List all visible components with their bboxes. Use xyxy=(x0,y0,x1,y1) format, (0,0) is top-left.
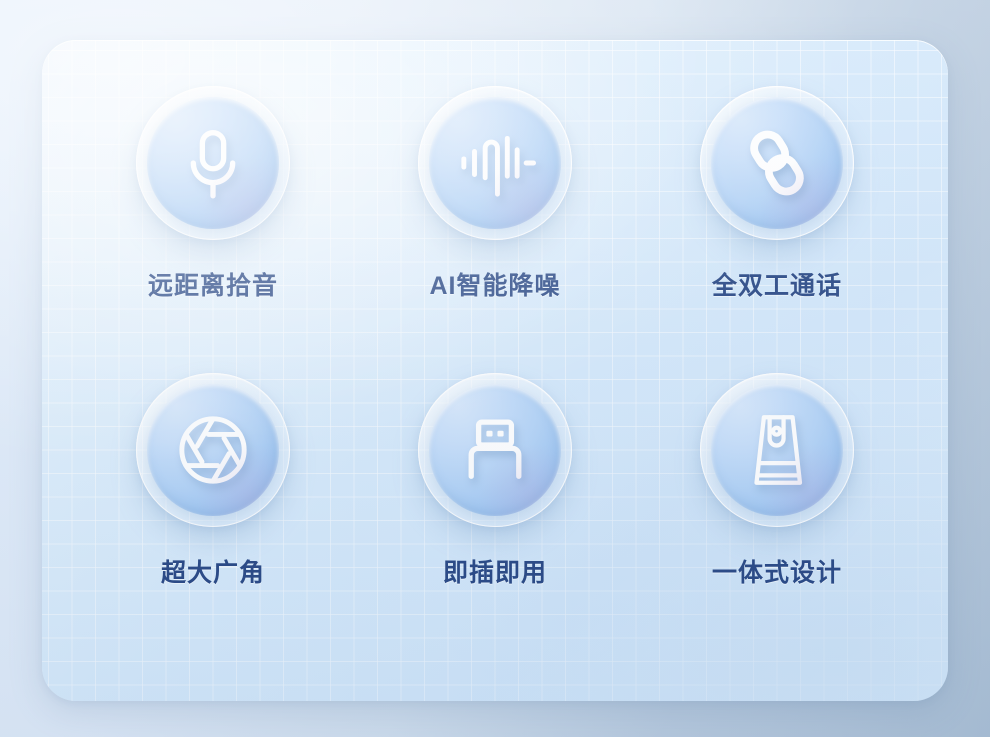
icon-badge[interactable] xyxy=(136,373,290,527)
icon-badge-disc xyxy=(711,97,843,229)
feature-item-full-duplex-call[interactable]: 全双工通话 xyxy=(636,86,918,373)
feature-grid: 远距离拾音 xyxy=(42,40,948,701)
feature-label: 一体式设计 xyxy=(712,553,842,589)
usb-plug-icon xyxy=(454,409,536,491)
feature-label: 超大广角 xyxy=(161,553,265,589)
audio-waveform-icon xyxy=(454,122,536,204)
feature-item-all-in-one-design[interactable]: 一体式设计 xyxy=(636,373,918,660)
feature-card: 远距离拾音 xyxy=(42,40,948,701)
icon-badge[interactable] xyxy=(418,373,572,527)
icon-badge-disc xyxy=(147,97,279,229)
feature-label: 远距离拾音 xyxy=(148,266,278,302)
feature-showcase-page: 远距离拾音 xyxy=(0,0,990,737)
feature-item-plug-and-play[interactable]: 即插即用 xyxy=(354,373,636,660)
icon-badge-disc xyxy=(429,384,561,516)
feature-item-ultra-wide-angle[interactable]: 超大广角 xyxy=(72,373,354,660)
conference-device-icon xyxy=(736,409,818,491)
camera-aperture-icon xyxy=(172,409,254,491)
feature-label: 即插即用 xyxy=(443,553,547,589)
icon-badge[interactable] xyxy=(136,86,290,240)
icon-badge-disc xyxy=(147,384,279,516)
chain-link-icon xyxy=(736,122,818,204)
microphone-icon xyxy=(172,122,254,204)
feature-label: 全双工通话 xyxy=(712,266,842,302)
icon-badge[interactable] xyxy=(700,373,854,527)
icon-badge[interactable] xyxy=(418,86,572,240)
feature-label: AI智能降噪 xyxy=(429,266,560,302)
icon-badge-disc xyxy=(711,384,843,516)
icon-badge-disc xyxy=(429,97,561,229)
icon-badge[interactable] xyxy=(700,86,854,240)
feature-item-far-field-pickup[interactable]: 远距离拾音 xyxy=(72,86,354,373)
feature-item-ai-noise-reduction[interactable]: AI智能降噪 xyxy=(354,86,636,373)
